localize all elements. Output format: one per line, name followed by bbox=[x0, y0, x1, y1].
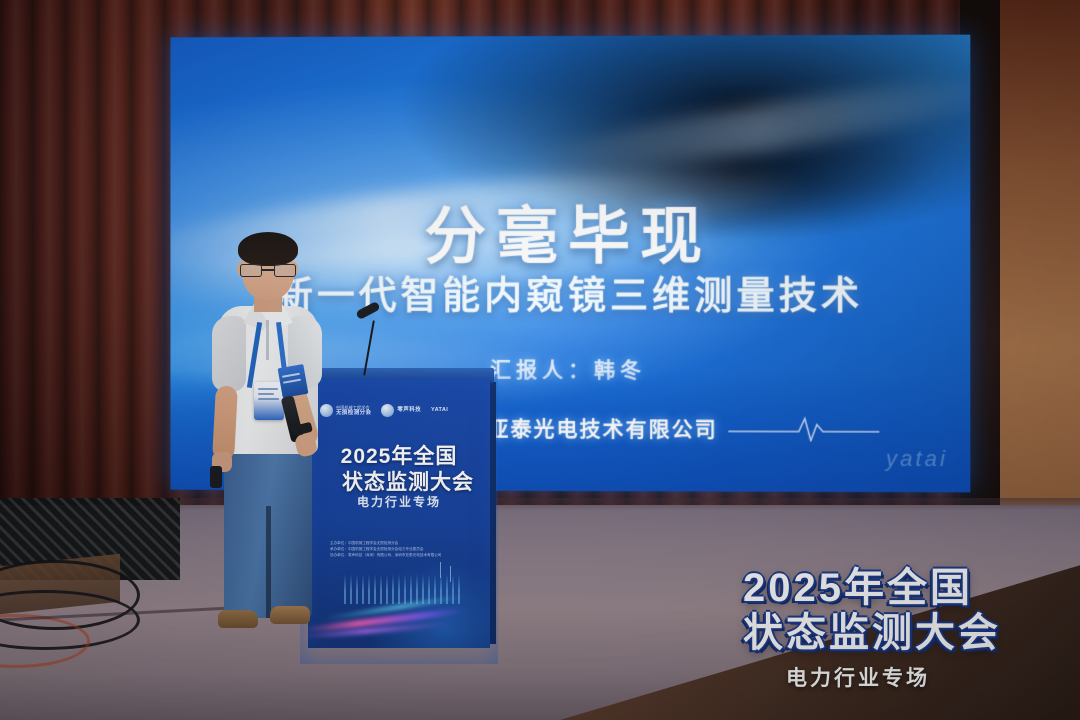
eyeglasses-icon bbox=[240, 264, 296, 277]
speaker-arm bbox=[212, 385, 238, 460]
presentation-clicker bbox=[210, 466, 222, 488]
wind-turbine-icon bbox=[440, 562, 441, 578]
sponsor-logo: 零声科技 bbox=[381, 404, 421, 417]
lens-right bbox=[274, 264, 296, 277]
wind-turbine-icon bbox=[450, 566, 451, 582]
jeans-inseam bbox=[266, 506, 271, 618]
sponsor-logo-abbrev: 无损检测分会 bbox=[336, 410, 371, 416]
sponsor-logo-label: 中国机械工程学会无损检测分会 bbox=[336, 405, 371, 416]
shirt-sleeve bbox=[212, 316, 246, 392]
screen-brand-mark: yatai bbox=[886, 446, 948, 472]
mic-stem bbox=[363, 320, 375, 375]
emblem-icon bbox=[381, 404, 394, 417]
sponsor-logo-abbrev: 零声科技 bbox=[397, 407, 421, 413]
sponsor-logo-row: 中国机械工程学会无损检测分会 零声科技 YATAI bbox=[320, 400, 480, 420]
lens-left bbox=[240, 264, 262, 277]
speaker-person bbox=[196, 238, 336, 638]
conference-stage-photo: 分毫毕现 新一代智能内窥镜三维测量技术 汇报人：韩冬 深圳市亚泰光电技术有限公司… bbox=[0, 0, 1080, 720]
sponsor-logo: YATAI bbox=[431, 407, 448, 413]
gooseneck-microphone bbox=[352, 302, 394, 374]
shirt-placket bbox=[266, 320, 269, 360]
speaker-hair bbox=[238, 232, 298, 266]
conference-badge bbox=[254, 382, 284, 420]
microphone-flag bbox=[278, 364, 309, 398]
mic-capsule-icon bbox=[355, 301, 380, 320]
sponsor-logo-abbrev: YATAI bbox=[431, 407, 448, 413]
speaker-shoe bbox=[270, 606, 310, 624]
ecg-waveform-icon bbox=[728, 415, 879, 441]
glasses-bridge bbox=[262, 269, 274, 271]
side-wall-panel bbox=[1000, 0, 1080, 560]
podium-heading-line2: 状态监测大会 bbox=[328, 466, 488, 496]
podium-heading-line3: 电力行业专场 bbox=[316, 493, 482, 510]
speaker-shoe bbox=[218, 610, 258, 628]
